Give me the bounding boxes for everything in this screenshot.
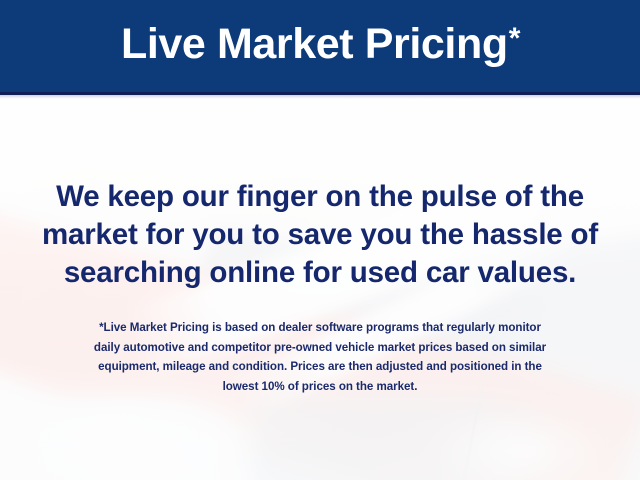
header-bar: Live Market Pricing* [0,0,640,92]
headline-line-3: searching online for used car values. [28,254,612,292]
live-market-pricing-banner: We keep our finger on the pulse of the m… [0,0,640,480]
headline-text: We keep our finger on the pulse of the m… [0,178,640,292]
page-title: Live Market Pricing* [121,23,519,69]
headline-line-2: market for you to save you the hassle of [28,216,612,254]
header-glow-strip [0,95,640,99]
disclaimer-line-4: lowest 10% of prices on the market. [28,377,612,397]
page-title-text: Live Market Pricing [121,20,508,68]
page-title-asterisk: * [509,22,520,55]
disclaimer-line-2: daily automotive and competitor pre-owne… [28,338,612,358]
disclaimer-line-3: equipment, mileage and condition. Prices… [28,357,612,377]
headline-line-1: We keep our finger on the pulse of the [28,178,612,216]
disclaimer-line-1: *Live Market Pricing is based on dealer … [28,318,612,338]
disclaimer-text: *Live Market Pricing is based on dealer … [0,318,640,396]
